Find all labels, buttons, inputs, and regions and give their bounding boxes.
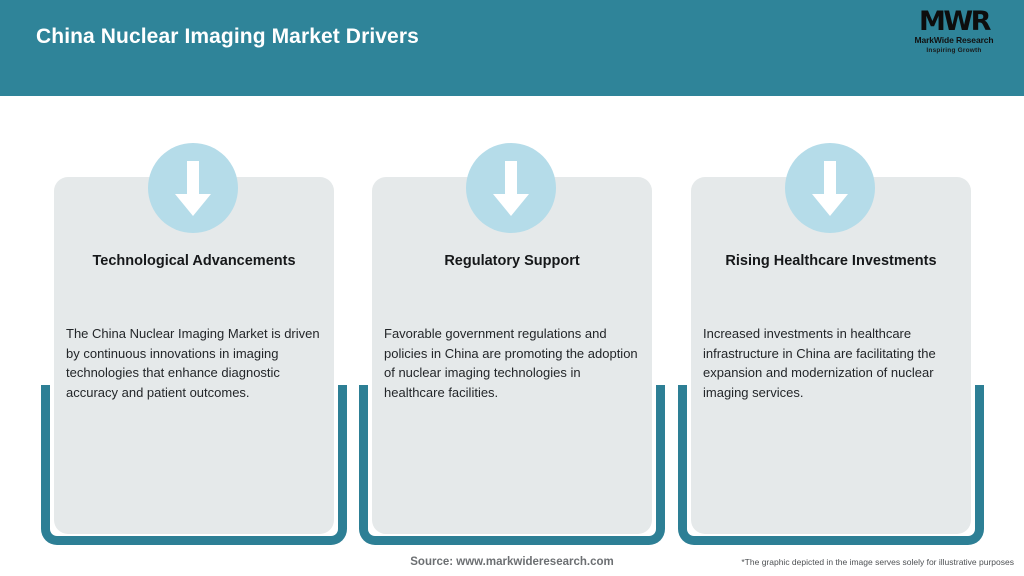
card-body: Favorable government regulations and pol… xyxy=(384,324,644,402)
mwr-logo-icon: MWR xyxy=(902,8,1006,35)
arrow-down-icon xyxy=(466,143,556,233)
page-title: China Nuclear Imaging Market Drivers xyxy=(36,25,419,49)
arrow-down-icon xyxy=(785,143,875,233)
card-body: Increased investments in healthcare infr… xyxy=(703,324,963,402)
arrow-down-icon xyxy=(148,143,238,233)
card-title: Rising Healthcare Investments xyxy=(704,250,958,272)
brand-name: MarkWide Research xyxy=(902,35,1006,46)
brand-logo: MWR MarkWide Research Inspiring Growth xyxy=(902,8,1006,60)
card-title: Regulatory Support xyxy=(385,250,639,272)
driver-cards-container: Technological Advancements The China Nuc… xyxy=(0,96,1024,546)
card-body: The China Nuclear Imaging Market is driv… xyxy=(66,324,326,402)
driver-card: Technological Advancements The China Nuc… xyxy=(41,96,347,546)
disclaimer-note: *The graphic depicted in the image serve… xyxy=(741,557,1014,567)
card-title: Technological Advancements xyxy=(67,250,321,272)
brand-tagline: Inspiring Growth xyxy=(902,46,1006,55)
header-bar: China Nuclear Imaging Market Drivers MWR… xyxy=(0,0,1024,96)
driver-card: Rising Healthcare Investments Increased … xyxy=(678,96,984,546)
driver-card: Regulatory Support Favorable government … xyxy=(359,96,665,546)
